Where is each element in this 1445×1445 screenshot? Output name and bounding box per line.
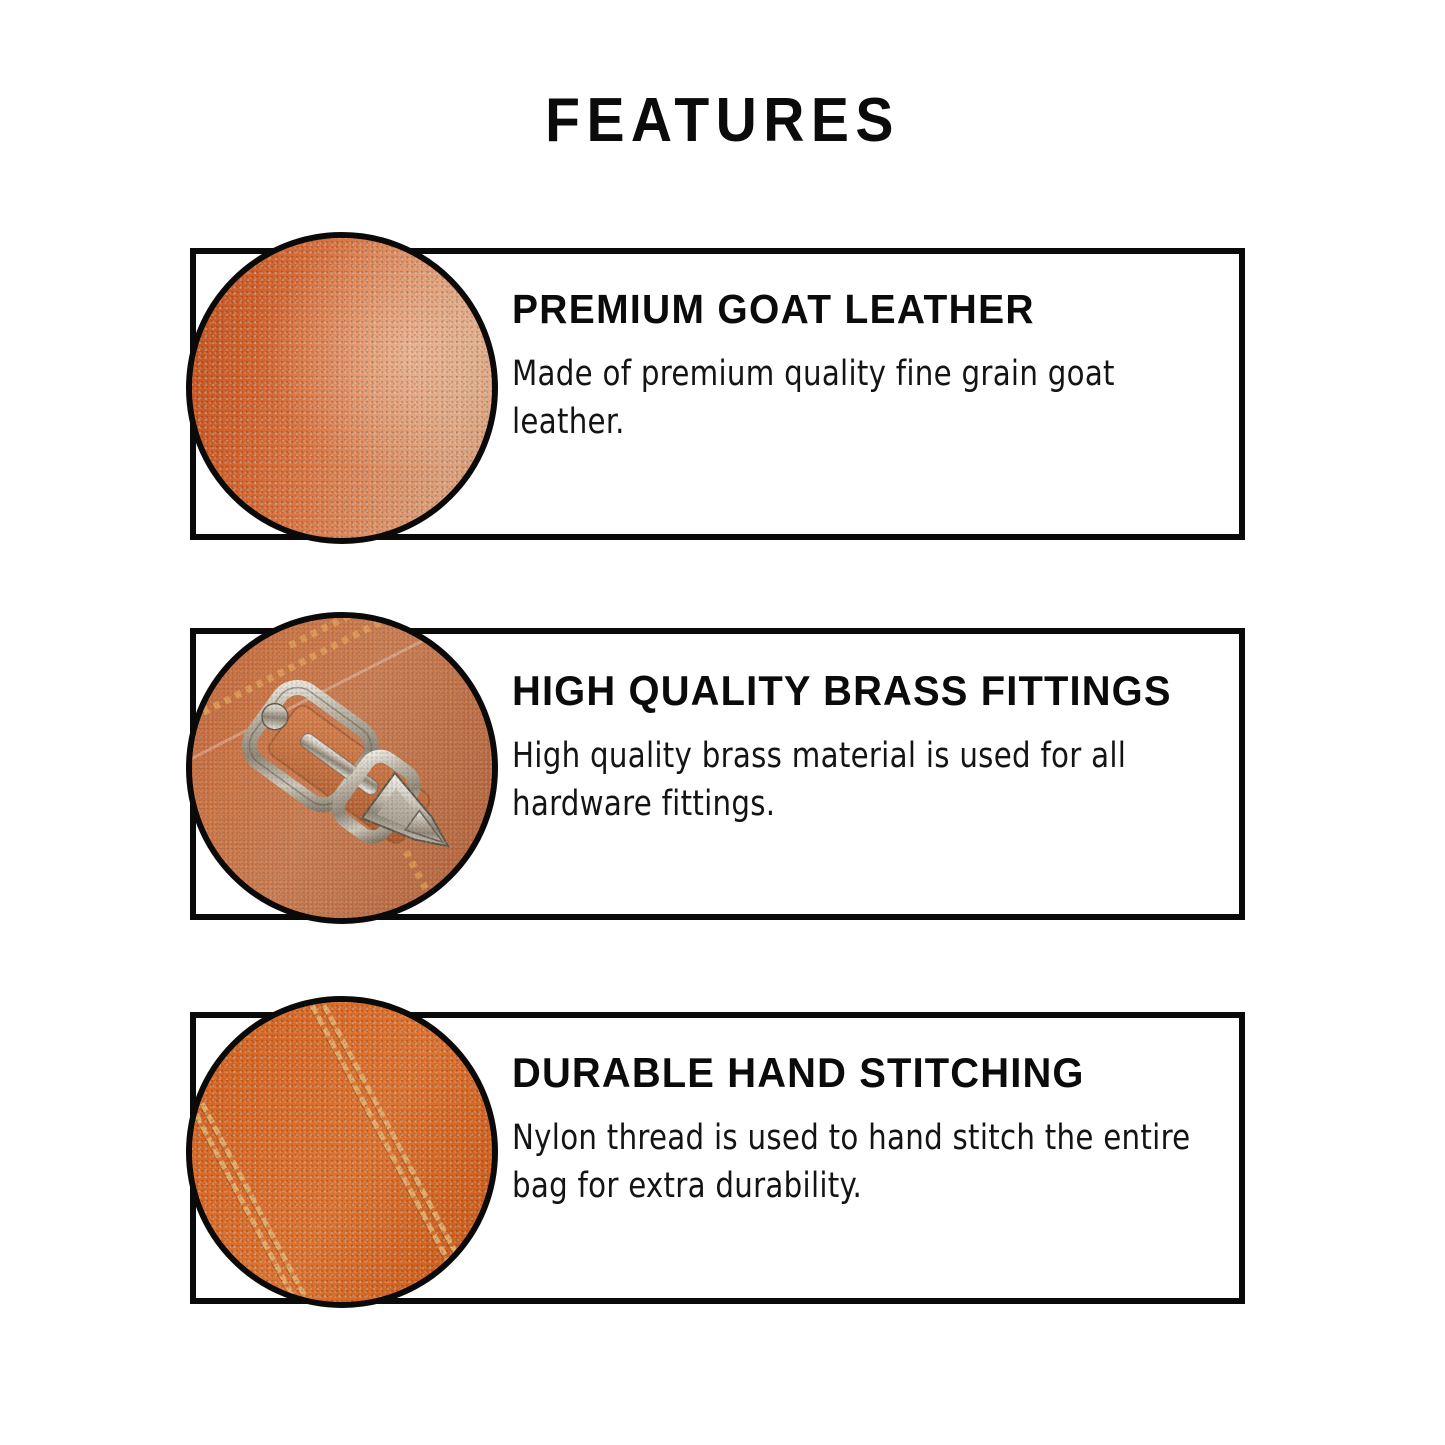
feature-heading: PREMIUM GOAT LEATHER [512,286,1206,332]
hand-stitching-leather-photo [186,996,498,1308]
page-title: FEATURES [58,86,1387,156]
feature-text-block: HIGH QUALITY BRASS FITTINGS High quality… [512,668,1242,828]
feature-row-hand-stitching: DURABLE HAND STITCHING Nylon thread is u… [0,996,1445,1316]
feature-text-block: PREMIUM GOAT LEATHER Made of premium qua… [512,286,1242,446]
feature-row-brass-fittings: HIGH QUALITY BRASS FITTINGS High quality… [0,612,1445,932]
feature-body: High quality brass material is used for … [512,732,1191,828]
brass-buckle-fitting-photo [186,612,498,924]
feature-body: Made of premium quality fine grain goat … [512,350,1191,446]
feature-heading: DURABLE HAND STITCHING [512,1050,1206,1096]
features-infographic: FEATURES PREMIUM GOAT LEATHER Made of pr… [0,0,1445,1445]
feature-body: Nylon thread is used to hand stitch the … [512,1114,1191,1210]
feature-heading: HIGH QUALITY BRASS FITTINGS [512,668,1206,714]
feature-row-premium-goat-leather: PREMIUM GOAT LEATHER Made of premium qua… [0,232,1445,552]
goat-leather-grain-photo [186,232,498,544]
feature-text-block: DURABLE HAND STITCHING Nylon thread is u… [512,1050,1242,1210]
